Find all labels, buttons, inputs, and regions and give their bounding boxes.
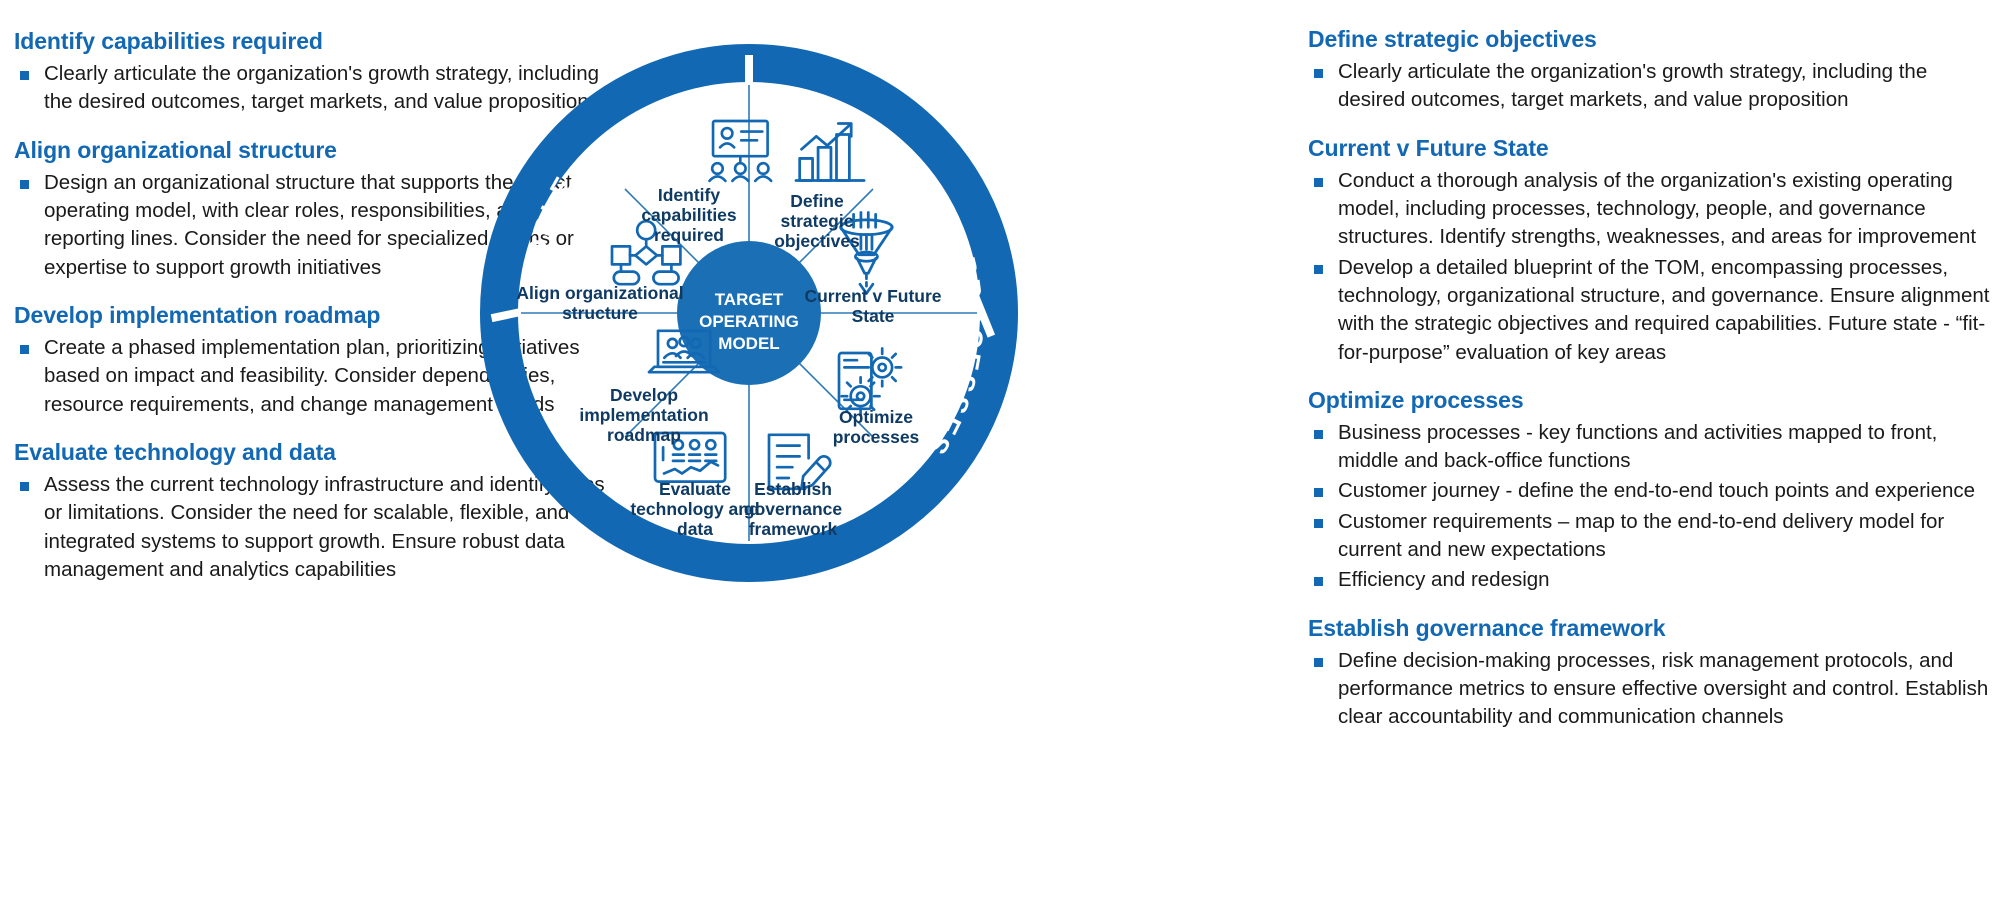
list-item: Customer requirements – map to the end-t… <box>1308 508 1998 565</box>
segment-label-develop-implementation-roadmap: Develop implementation roadmap <box>567 385 721 445</box>
target-operating-model-wheel: PEOPLE PROCESSES TECHNOLOGY <box>469 33 1029 593</box>
segment-label-align-organizational-structure: Align organizational structure <box>505 283 695 323</box>
hub-line-1: TARGET <box>715 290 784 309</box>
right-text-column: Define strategic objectives Clearly arti… <box>1308 26 1998 734</box>
list-item: Business processes - key functions and a… <box>1308 419 1998 476</box>
segment-label-optimize-processes: Optimize processes <box>817 407 935 447</box>
bullet-list: Define decision-making processes, risk m… <box>1308 647 1998 732</box>
gears-settings-icon <box>839 349 901 416</box>
presentation-audience-icon <box>710 121 772 181</box>
bullet-list: Clearly articulate the organization's gr… <box>1308 58 1998 115</box>
section-establish-governance-framework: Establish governance framework Define de… <box>1308 615 1998 732</box>
list-item: Develop a detailed blueprint of the TOM,… <box>1308 254 1998 367</box>
section-title: Optimize processes <box>1308 387 1998 414</box>
segment-label-evaluate-technology-and-data: Evaluate technology and data <box>625 479 765 539</box>
section-title: Establish governance framework <box>1308 615 1998 642</box>
bullet-list: Conduct a thorough analysis of the organ… <box>1308 167 1998 367</box>
bar-chart-growth-icon <box>796 123 864 180</box>
segment-label-define-strategic-objectives: Define strategic objectives <box>757 191 877 251</box>
list-item: Define decision-making processes, risk m… <box>1308 647 1998 732</box>
list-item: Clearly articulate the organization's gr… <box>1308 58 1998 115</box>
hub-line-2: OPERATING <box>699 312 799 331</box>
list-item: Conduct a thorough analysis of the organ… <box>1308 167 1998 252</box>
section-optimize-processes: Optimize processes Business processes - … <box>1308 387 1998 595</box>
section-current-v-future-state: Current v Future State Conduct a thoroug… <box>1308 135 1998 367</box>
list-item: Customer journey - define the end-to-end… <box>1308 477 1998 505</box>
segment-label-current-v-future-state: Current v Future State <box>799 286 947 326</box>
section-define-strategic-objectives: Define strategic objectives Clearly arti… <box>1308 26 1998 115</box>
section-title: Define strategic objectives <box>1308 26 1998 53</box>
tom-infographic-page: Identify capabilities required Clearly a… <box>0 0 2000 909</box>
bullet-list: Business processes - key functions and a… <box>1308 419 1998 595</box>
hub-line-3: MODEL <box>718 334 779 353</box>
section-title: Current v Future State <box>1308 135 1998 162</box>
list-item: Efficiency and redesign <box>1308 566 1998 594</box>
segment-label-identify-capabilities-required: Identify capabilities required <box>627 185 751 245</box>
